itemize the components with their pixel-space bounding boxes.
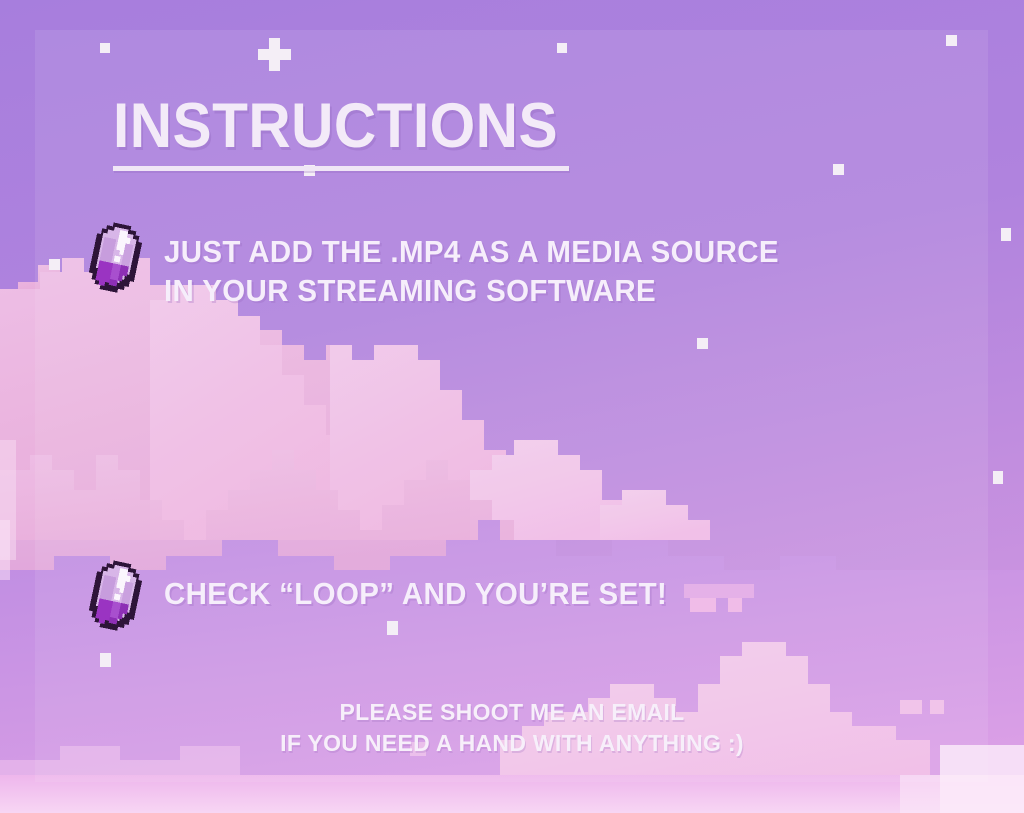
crystal-gem-icon	[88, 560, 146, 636]
instruction-item-2: CHECK “LOOP” AND YOU’RE SET!	[88, 410, 928, 636]
instruction-text-2: CHECK “LOOP” AND YOU’RE SET!	[164, 410, 667, 613]
page-title-block: INSTRUCTIONS	[113, 94, 592, 171]
title-underline	[113, 166, 569, 171]
instruction-text-1: JUST ADD THE .MP4 AS A MEDIA SOURCE IN Y…	[164, 222, 779, 310]
instruction-list: JUST ADD THE .MP4 AS A MEDIA SOURCE IN Y…	[88, 222, 928, 636]
instructions-overlay-canvas: INSTRUCTIONS	[0, 0, 1024, 813]
page-title: INSTRUCTIONS	[113, 94, 558, 158]
instruction-item-1: JUST ADD THE .MP4 AS A MEDIA SOURCE IN Y…	[88, 222, 928, 310]
content-layer: INSTRUCTIONS	[0, 0, 1024, 813]
footer-line: PLEASE SHOOT ME AN EMAIL	[0, 697, 1024, 728]
instruction-line: IN YOUR STREAMING SOFTWARE	[164, 271, 779, 310]
crystal-gem-icon	[88, 222, 146, 298]
footer-line: IF YOU NEED A HAND WITH ANYTHING :)	[0, 728, 1024, 759]
instruction-line: JUST ADD THE .MP4 AS A MEDIA SOURCE	[164, 232, 779, 271]
footer-note: PLEASE SHOOT ME AN EMAIL IF YOU NEED A H…	[0, 697, 1024, 759]
instruction-line: CHECK “LOOP” AND YOU’RE SET!	[164, 574, 667, 613]
